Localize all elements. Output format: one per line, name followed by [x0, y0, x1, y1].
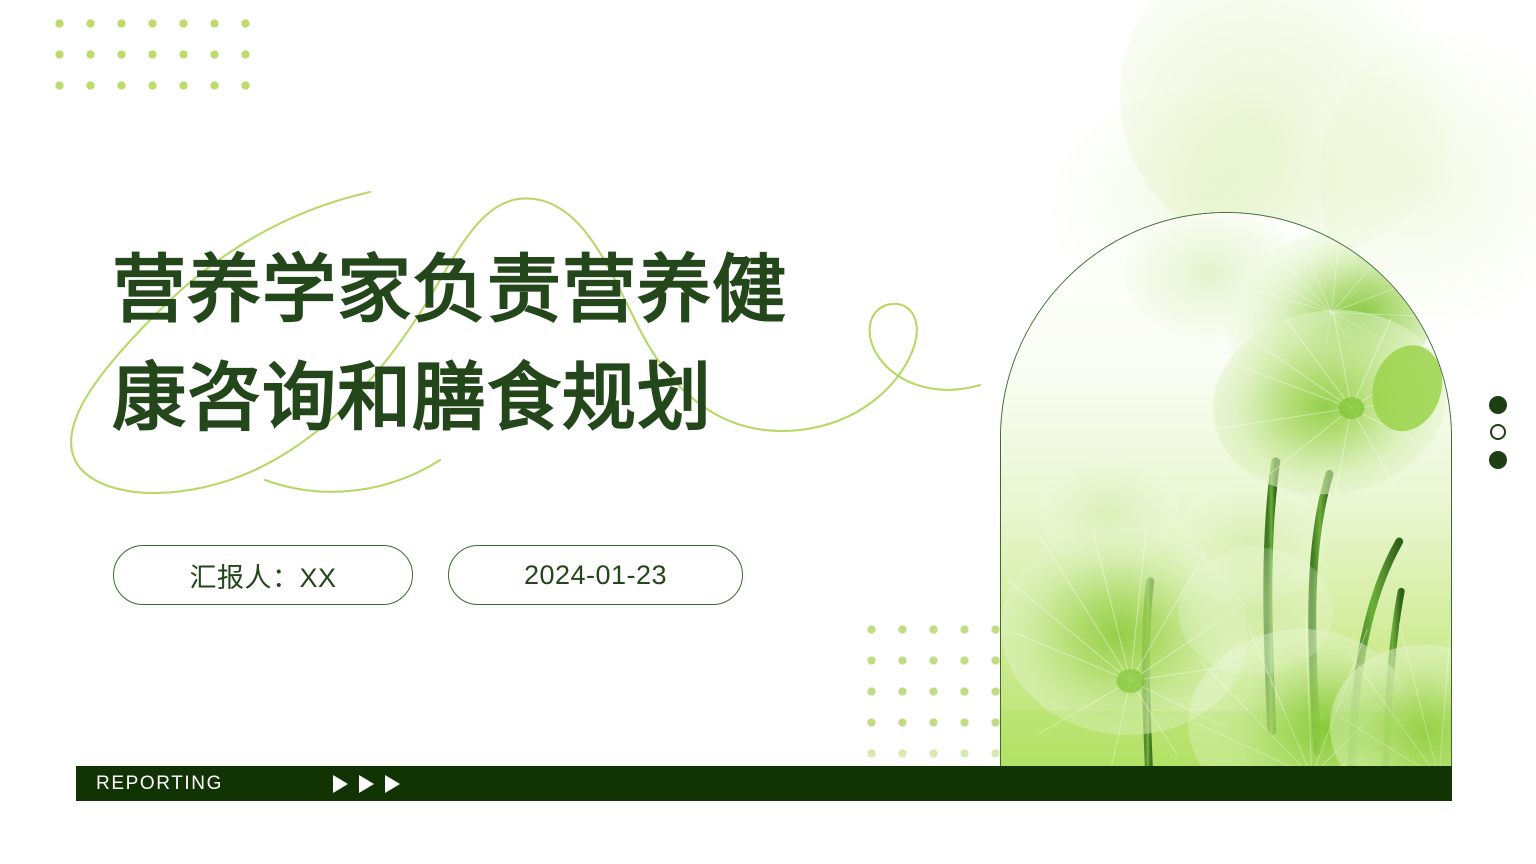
- filled-dot-icon: [1489, 396, 1507, 414]
- presenter-pill[interactable]: 汇报人：XX: [113, 545, 413, 605]
- page-title: 营养学家负责营养健 康咨询和膳食规划: [112, 236, 912, 452]
- lotus-leaves-photo: [1000, 212, 1452, 800]
- title-line-1: 营养学家负责营养健: [112, 236, 912, 344]
- play-arrow-icon: [385, 775, 400, 793]
- presenter-label: 汇报人：XX: [189, 556, 336, 595]
- footer-arrows: [333, 775, 400, 793]
- presentation-slide: 营养学家负责营养健 康咨询和膳食规划 汇报人：XX 2024-01-23 REP…: [0, 0, 1536, 864]
- filled-dot-icon: [1489, 451, 1507, 469]
- play-arrow-icon: [333, 775, 348, 793]
- date-label: 2024-01-23: [524, 560, 667, 591]
- footer-label: REPORTING: [96, 773, 223, 795]
- meta-row: 汇报人：XX 2024-01-23: [113, 545, 743, 605]
- title-line-2: 康咨询和膳食规划: [112, 344, 912, 452]
- dot-grid-icon: [41, 0, 259, 104]
- footer-bar: REPORTING: [76, 766, 1452, 801]
- hollow-dot-icon: [1490, 424, 1506, 440]
- play-arrow-icon: [359, 775, 374, 793]
- date-pill[interactable]: 2024-01-23: [448, 545, 743, 605]
